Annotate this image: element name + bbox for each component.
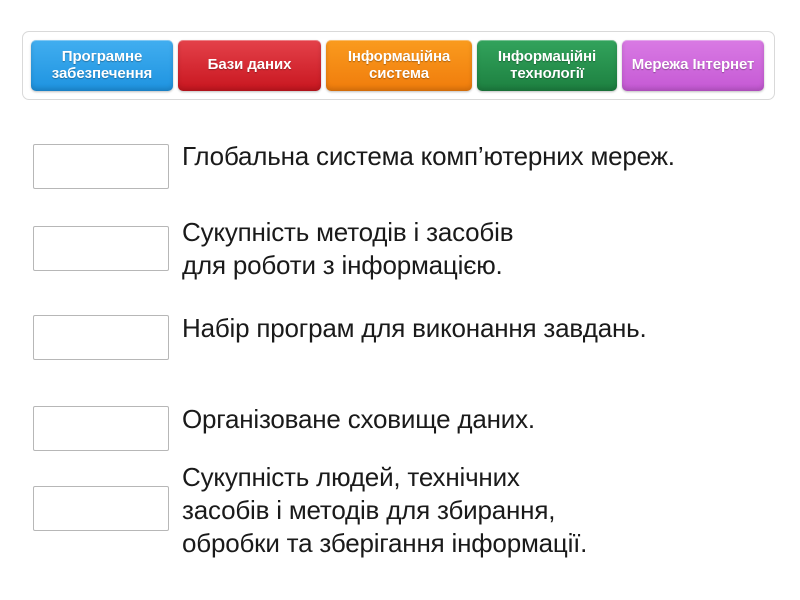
definition-text: Сукупність методів і засобів для роботи … [182,216,782,282]
definition-text: Глобальна система комп’ютерних мереж. [182,140,782,173]
answer-drop-zone-2[interactable] [33,226,169,271]
answer-drop-zone-4[interactable] [33,406,169,451]
term-tile-informatsiyna-systema[interactable]: Інформаційна система [326,40,472,91]
definition-text: Організоване сховище даних. [182,403,782,436]
term-tile-programne-zabezpechennya[interactable]: Програмне забезпечення [31,40,173,91]
definition-text: Набір програм для виконання завдань. [182,312,782,345]
term-tile-label: Інформаційна система [333,49,465,83]
definition-text: Сукупність людей, технічних засобів і ме… [182,461,782,560]
answer-drop-zone-1[interactable] [33,144,169,189]
answer-drop-zone-5[interactable] [33,486,169,531]
term-tile-bazy-danykh[interactable]: Бази даних [178,40,321,91]
term-tile-merezha-internet[interactable]: Мережа Інтернет [622,40,764,91]
term-tile-tray: Програмне забезпечення Бази даних Інформ… [22,31,775,100]
term-tile-label: Бази даних [208,57,292,74]
term-tile-label: Інформаційні технології [484,49,610,83]
term-tile-label: Програмне забезпечення [38,49,166,83]
term-tile-label: Мережа Інтернет [632,57,755,74]
term-tile-informatsiyni-tekhnolohii[interactable]: Інформаційні технології [477,40,617,91]
answer-drop-zone-3[interactable] [33,315,169,360]
